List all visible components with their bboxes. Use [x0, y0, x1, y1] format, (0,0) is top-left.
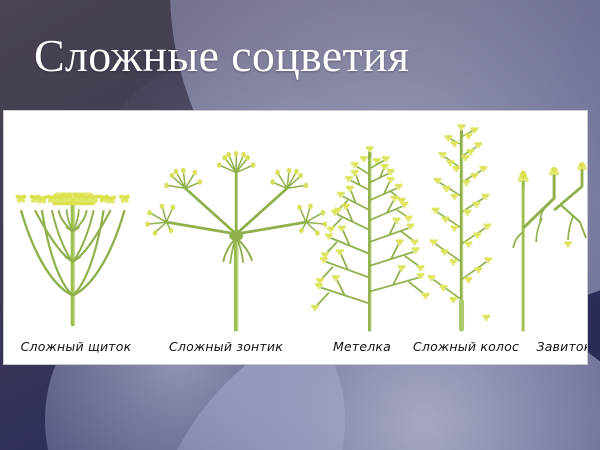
caption-corymb: Сложный щиток [21, 339, 132, 354]
slide-title: Сложные соцветия [34, 29, 409, 83]
inflorescence-umbel [145, 151, 327, 331]
figure-panel: Сложный щиток Сложный зонтик Метелка Сло… [3, 110, 588, 365]
inflorescence-spike [428, 124, 493, 331]
caption-panicle: Метелка [333, 339, 391, 354]
inflorescence-corymb [16, 192, 130, 324]
presentation-slide: Сложные соцветия [0, 0, 600, 450]
inflorescence-cyme [513, 162, 587, 331]
caption-umbel: Сложный зонтик [169, 339, 283, 354]
caption-cyme: Завиток [536, 339, 588, 354]
caption-spike: Сложный колос [413, 339, 519, 354]
inflorescence-panicle [311, 146, 430, 331]
inflorescence-diagram [4, 111, 587, 364]
